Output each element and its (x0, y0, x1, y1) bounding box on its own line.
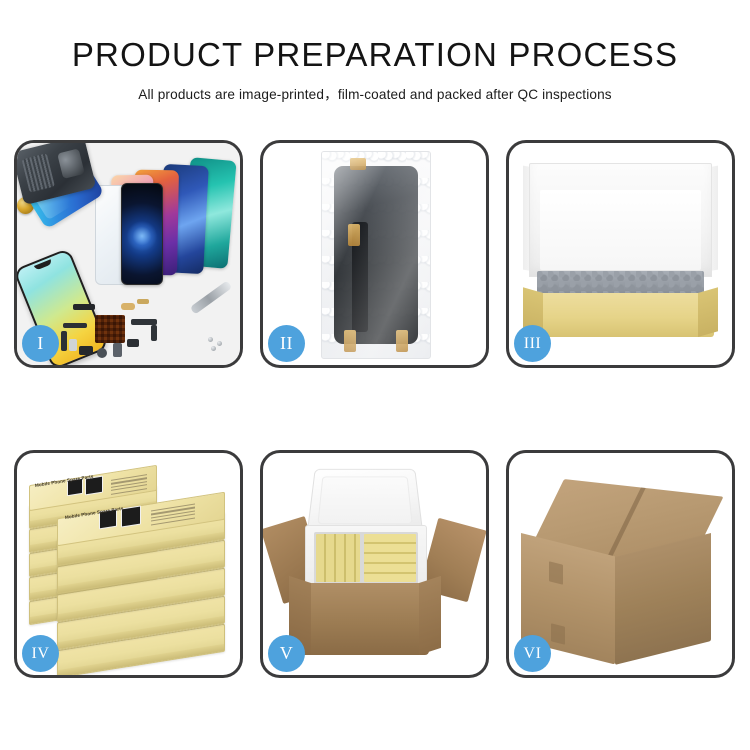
process-step-grid: I II (14, 140, 736, 678)
step-badge-6: VI (514, 635, 551, 672)
flex-cable-2-icon (61, 331, 67, 351)
process-step-panel-1[interactable]: I (14, 140, 243, 368)
part-gold-flex-icon (121, 303, 135, 310)
part-speaker-icon (97, 348, 107, 358)
chip-array-icon (95, 315, 125, 343)
process-step-panel-3[interactable]: III (506, 140, 735, 368)
part-module-icon (79, 346, 93, 355)
product-preparation-page: PRODUCT PREPARATION PROCESS All products… (0, 0, 750, 750)
bag-gloss-overlay (322, 152, 430, 358)
shipping-carton-open-icon (271, 465, 478, 667)
step-badge-3: III (514, 325, 551, 362)
step-badge-1: I (22, 325, 59, 362)
part-bracket-icon (127, 339, 139, 347)
flex-cable-4-icon (151, 325, 157, 341)
carton-right-face (615, 533, 711, 665)
box-foam-lid (529, 163, 712, 277)
page-subtitle: All products are image-printed，film-coat… (0, 83, 750, 103)
carton-front-panel (301, 583, 429, 655)
bubble-wrap-bag-icon (321, 151, 431, 359)
process-step-panel-4[interactable]: Mobile Phone Spare Parts Mobile Phone Sp… (14, 450, 243, 678)
carton-tape-upper (549, 561, 563, 584)
open-kraft-box-icon (523, 163, 718, 341)
part-camera-icon (113, 343, 122, 357)
process-step-panel-2[interactable]: II (260, 140, 489, 368)
header: PRODUCT PREPARATION PROCESS All products… (0, 38, 750, 103)
yellow-boxes-group-left (316, 534, 360, 582)
process-step-panel-6[interactable]: VI (506, 450, 735, 678)
styrofoam-cavity (314, 532, 418, 584)
box-front-panel (527, 293, 714, 337)
step-badge-4: IV (22, 635, 59, 672)
step-badge-2: II (268, 325, 305, 362)
screws-icon (208, 337, 228, 351)
screwdriver-icon (190, 280, 233, 314)
flex-cable-1-icon (63, 323, 87, 328)
part-connector-icon (73, 304, 95, 310)
phone-dark-front-icon (121, 183, 163, 285)
carton-tape-lower (551, 623, 565, 644)
part-gold-strip-icon (137, 299, 149, 304)
process-step-panel-5[interactable]: V (260, 450, 489, 678)
sealed-carton-icon (521, 479, 720, 655)
box-print-chip-b2-icon (121, 505, 141, 527)
yellow-boxes-group-right (364, 534, 416, 582)
step-badge-5: V (268, 635, 305, 672)
part-sim-tray-icon (69, 339, 77, 351)
page-title: PRODUCT PREPARATION PROCESS (0, 38, 750, 73)
stacked-boxes-icon: Mobile Phone Spare Parts Mobile Phone Sp… (27, 469, 230, 665)
